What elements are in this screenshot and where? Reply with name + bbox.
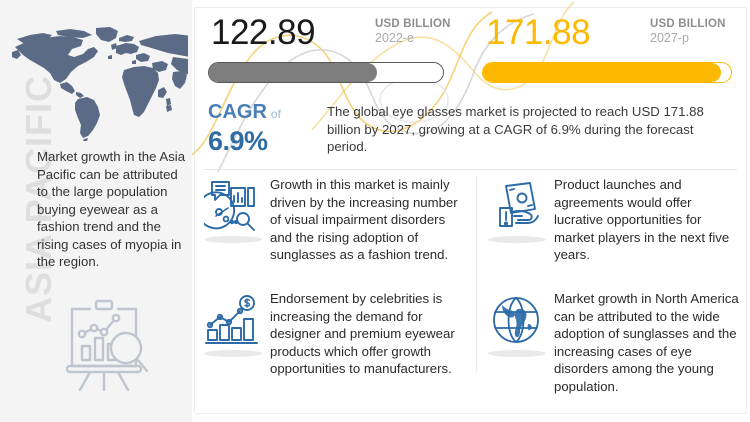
card-icon-shadow [488, 236, 546, 243]
card-icon-shadow [204, 236, 262, 243]
forecast-year-unit-label: USD BILLION [650, 17, 726, 31]
insight-card-4-text: Market growth in North America can be at… [554, 290, 740, 396]
insight-card-3: Endorsement by celebrities is increasing… [200, 290, 472, 406]
main-panel: 122.89 USD BILLION 2022-e 171.88 USD BIL… [192, 0, 750, 422]
horizontal-divider [203, 169, 737, 170]
insight-card-2-text: Product launches and agreements would of… [554, 176, 740, 264]
forecast-year-bar-fill [483, 63, 721, 82]
region-sidebar: ASIA PACIFIC [0, 0, 193, 422]
globe-icon [488, 292, 546, 350]
forecast-year-unit: USD BILLION 2027-p [650, 17, 726, 46]
infographic-root: ASIA PACIFIC [0, 0, 750, 422]
forecast-year-value: 171.88 [486, 12, 590, 54]
forecast-year-bar-track [482, 62, 732, 83]
insight-card-4: Market growth in North America can be at… [484, 290, 742, 406]
world-map-icon [8, 24, 188, 142]
cagr-block: CAGRof 6.9% [208, 100, 338, 157]
base-year-unit: USD BILLION 2022-e [375, 17, 451, 46]
stats-row: 122.89 USD BILLION 2022-e 171.88 USD BIL… [192, 0, 750, 95]
insight-card-3-text: Endorsement by celebrities is increasing… [270, 290, 468, 378]
presentation-chart-magnifier-icon [56, 296, 156, 394]
region-description: Market growth in the Asia Pacific can be… [37, 148, 187, 271]
base-year-unit-label: USD BILLION [375, 17, 451, 31]
base-year-label: 2022-e [375, 31, 451, 46]
bar-chart-growth-dollar-icon [204, 292, 262, 350]
summary-text: The global eye glasses market is project… [327, 103, 737, 156]
base-year-bar-fill [209, 63, 377, 82]
hand-holding-money-icon [488, 178, 546, 236]
base-year-value: 122.89 [211, 12, 315, 54]
vertical-divider [476, 176, 477, 372]
cagr-label-row: CAGRof [208, 100, 338, 126]
insight-card-2: Product launches and agreements would of… [484, 176, 742, 286]
card-icon-shadow [204, 350, 262, 357]
base-year-bar-track [208, 62, 444, 83]
percent-bar-chart-magnifier-icon [204, 178, 262, 236]
insight-card-1: Growth in this market is mainly driven b… [200, 176, 472, 286]
cagr-label: CAGR [208, 101, 267, 123]
forecast-year-label: 2027-p [650, 31, 726, 46]
insight-card-1-text: Growth in this market is mainly driven b… [270, 176, 468, 264]
cagr-value: 6.9% [208, 126, 338, 157]
cagr-of: of [271, 107, 281, 121]
card-icon-shadow [488, 350, 546, 357]
